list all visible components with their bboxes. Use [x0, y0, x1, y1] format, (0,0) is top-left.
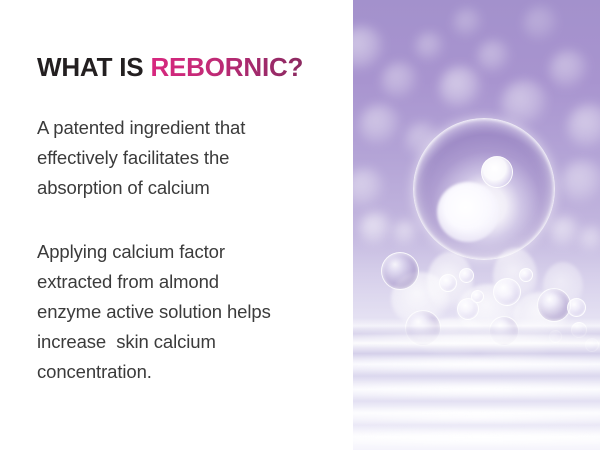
bokeh-circle — [353, 26, 385, 72]
page-title: WHAT IS REBORNIC? — [37, 53, 303, 82]
splash-bubble — [439, 274, 457, 292]
splash-bubble — [471, 290, 484, 303]
bokeh-circle — [567, 104, 600, 150]
water-ripple — [353, 382, 600, 398]
slide-root: WHAT IS REBORNIC? A patented ingredient … — [0, 0, 600, 450]
bokeh-circle — [415, 32, 445, 62]
bokeh-circle — [353, 168, 385, 208]
splash-bubble — [459, 268, 474, 283]
bokeh-circle — [549, 50, 589, 90]
water-ripple — [353, 408, 600, 424]
body-paragraph-1: A patented ingredient that effectively f… — [37, 113, 337, 203]
splash-bubble — [519, 268, 533, 282]
water-ripple — [353, 356, 600, 372]
bokeh-circle — [477, 40, 511, 74]
bokeh-circle — [453, 8, 483, 38]
large-bubble-small-reflection — [481, 156, 513, 188]
water-ripple — [353, 430, 600, 446]
bokeh-circle — [579, 226, 600, 252]
bokeh-circle — [359, 212, 393, 246]
paragraph-block-2: Applying calcium factor extracted from a… — [37, 237, 337, 387]
bokeh-circle — [393, 220, 419, 246]
bokeh-circle — [359, 104, 401, 146]
page-title-plain: WHAT IS — [37, 52, 150, 82]
splash-bubble — [537, 288, 571, 322]
page-title-accent: REBORNIC? — [150, 52, 303, 82]
bubble-water-photo — [353, 0, 600, 450]
bokeh-circle — [501, 80, 549, 128]
text-panel: WHAT IS REBORNIC? A patented ingredient … — [0, 0, 353, 450]
body-paragraph-2: Applying calcium factor extracted from a… — [37, 237, 337, 387]
bokeh-circle — [523, 6, 559, 42]
bokeh-circle — [561, 160, 600, 204]
splash-bubble — [567, 298, 586, 317]
splash-bubble — [381, 252, 419, 290]
product-image-panel — [353, 0, 600, 450]
water-ripple — [353, 330, 600, 346]
bokeh-circle — [549, 216, 581, 248]
bokeh-circle — [381, 62, 419, 100]
large-bubble-highlight — [437, 182, 499, 242]
splash-bubble — [493, 278, 521, 306]
bokeh-circle — [439, 66, 483, 110]
paragraph-block-1: A patented ingredient that effectively f… — [37, 113, 337, 203]
